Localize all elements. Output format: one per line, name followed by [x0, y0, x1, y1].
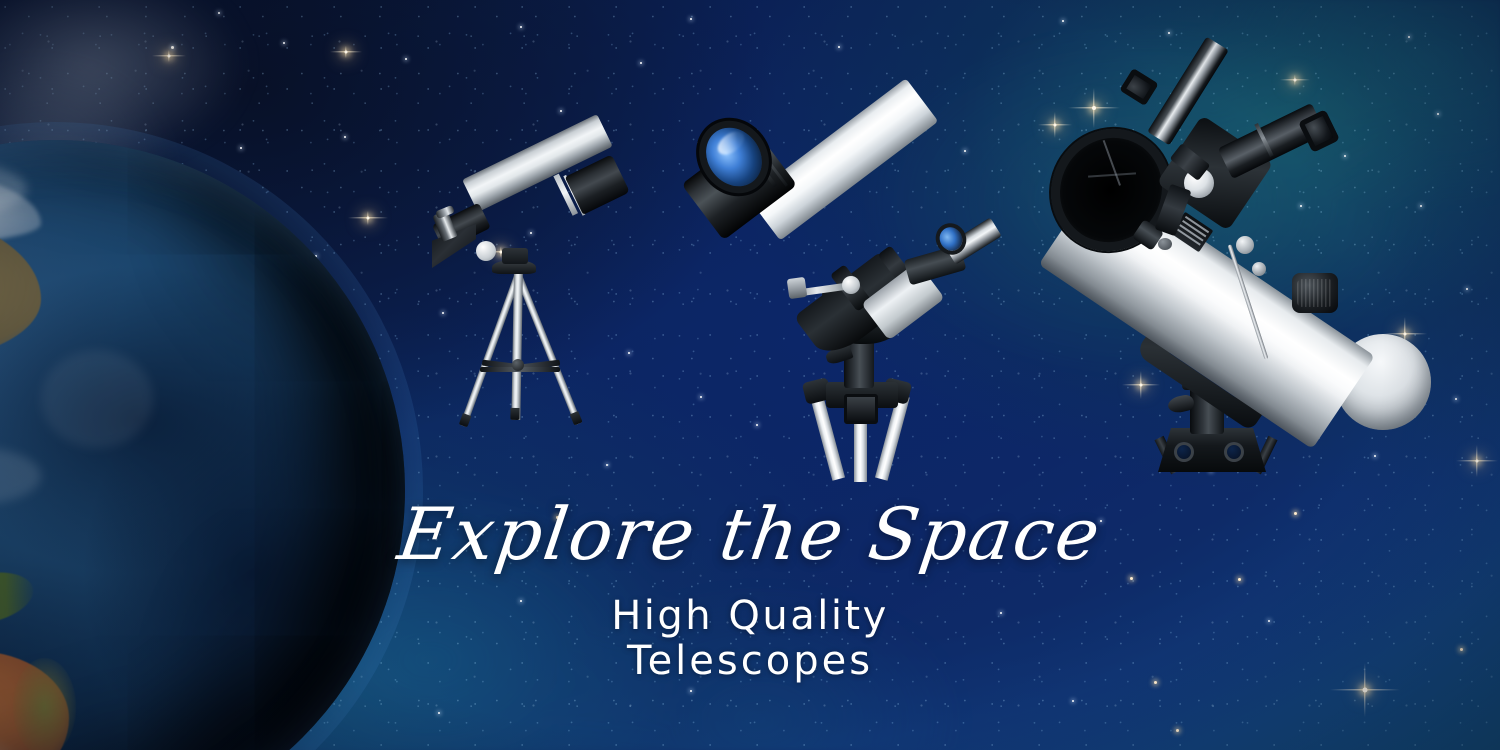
page-title: Explore the Space	[0, 498, 1500, 570]
banner-text-block: Explore the Space High Quality Telescope…	[0, 498, 1500, 684]
banner-subtitle-line-1: High Quality	[611, 593, 889, 639]
space-telescope-banner: Explore the Space High Quality Telescope…	[0, 0, 1500, 750]
banner-subtitle-line-2: Telescopes	[0, 639, 1500, 684]
banner-subtitle: High Quality Telescopes	[0, 594, 1500, 684]
